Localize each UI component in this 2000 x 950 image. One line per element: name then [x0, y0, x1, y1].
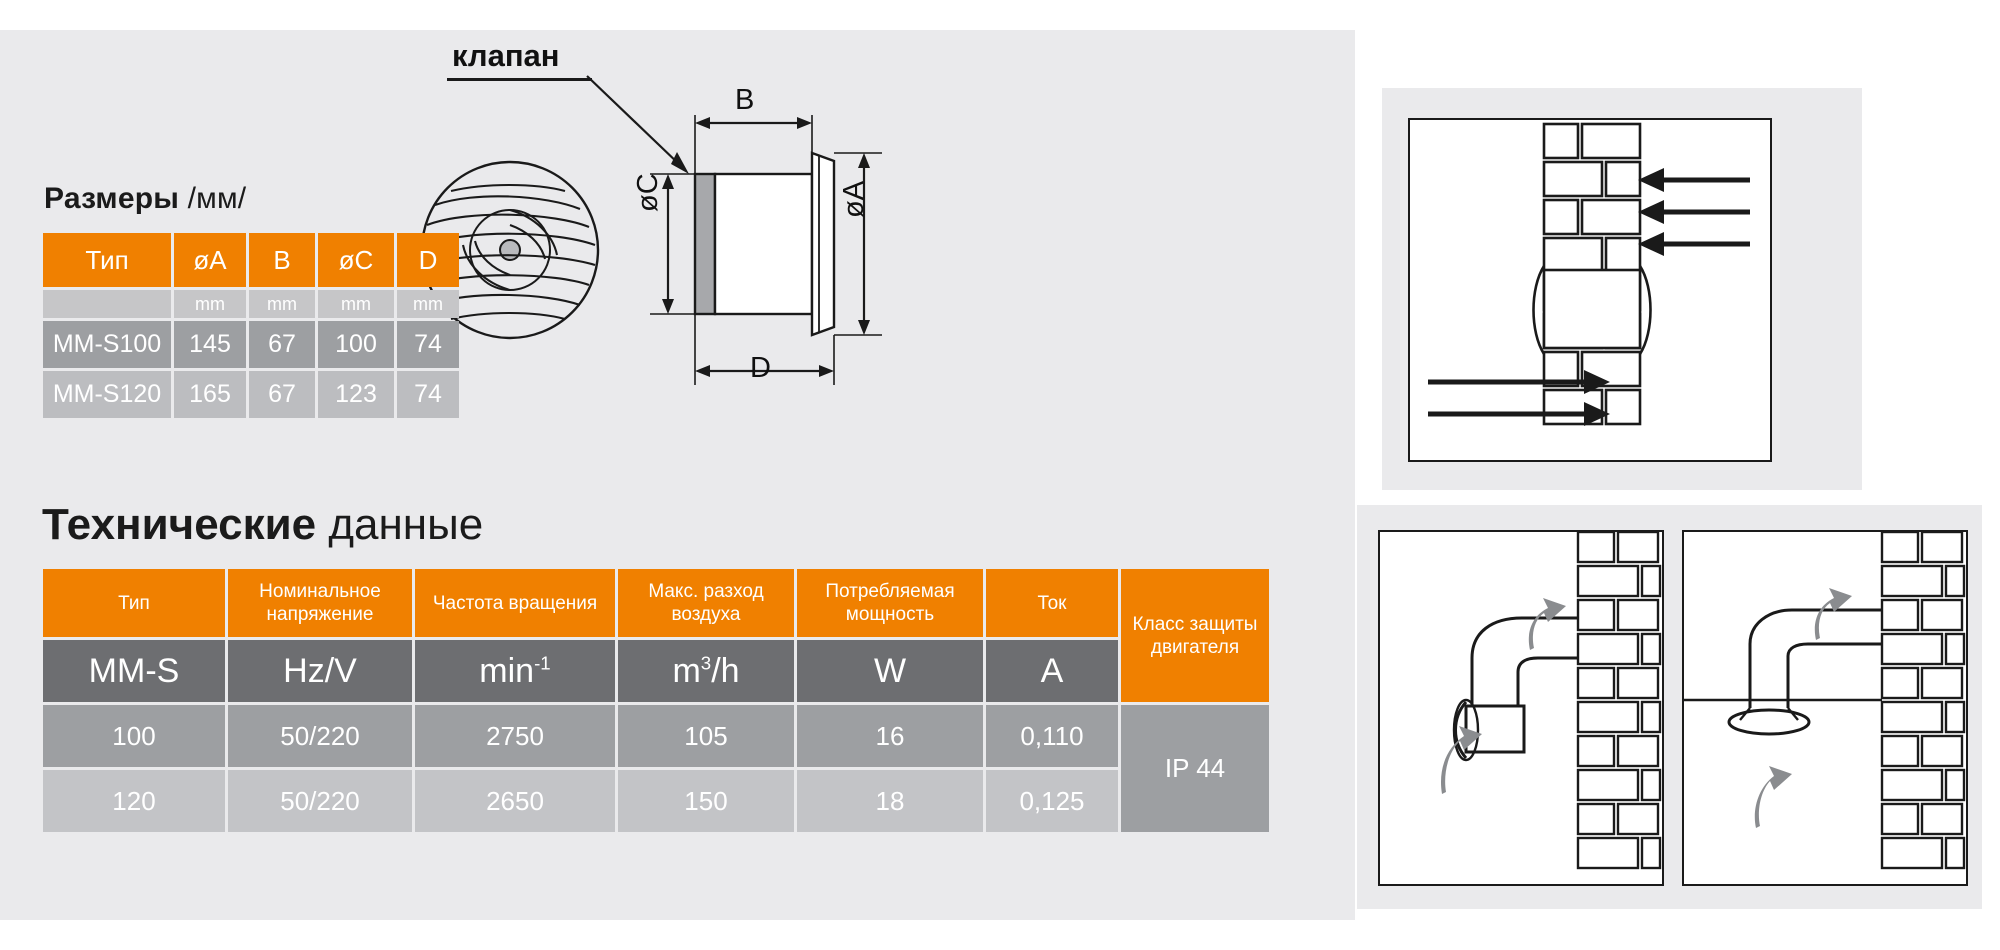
dimensions-units-row: mm mm mm mm	[43, 290, 459, 318]
dimensions-title-bold: Размеры	[44, 182, 179, 215]
tech-col-voltage: Номинальное напряжение	[228, 569, 412, 637]
technical-header-row: Тип Номинальное напряжение Частота враще…	[43, 569, 1269, 637]
cell-speed: 2650	[415, 770, 615, 832]
tech-unit-speed-sup: -1	[534, 652, 551, 673]
cell-type: 100	[43, 705, 225, 767]
wall-installation-diagram	[1408, 118, 1772, 462]
cell-power: 18	[797, 770, 983, 832]
dimensions-unit-oc: mm	[318, 290, 394, 318]
tech-unit-airflow: m3/h	[618, 640, 794, 702]
technical-data-title: Технические данные	[42, 500, 1272, 550]
tech-unit-type: MM-S	[43, 640, 225, 702]
fan-side-view-drawing	[620, 95, 910, 395]
cell-type: 120	[43, 770, 225, 832]
cell-b: 67	[249, 371, 315, 418]
dimension-label-oa: øA	[838, 181, 871, 218]
table-row: MM-S120 165 67 123 74	[43, 371, 459, 418]
cell-power: 16	[797, 705, 983, 767]
tech-unit-voltage: Hz/V	[228, 640, 412, 702]
tech-col-protection: Класс защиты двигателя	[1121, 569, 1269, 702]
technical-title-light: данные	[328, 500, 483, 549]
dimensions-table: Тип øA B øC D mm mm mm mm MM-S100 145 67…	[40, 230, 462, 421]
technical-units-row: MM-S Hz/V min-1 m3/h W A	[43, 640, 1269, 702]
tech-unit-power: W	[797, 640, 983, 702]
dimensions-col-d: D	[397, 233, 459, 287]
cell-type: MM-S100	[43, 321, 171, 368]
cell-voltage: 50/220	[228, 770, 412, 832]
valve-callout-underline	[447, 78, 592, 81]
dimensions-unit-oa: mm	[174, 290, 246, 318]
technical-title-bold: Технические	[42, 500, 316, 549]
tech-unit-current: A	[986, 640, 1118, 702]
cell-oc: 123	[318, 371, 394, 418]
cell-oa: 145	[174, 321, 246, 368]
technical-data-section: Технические данные Тип Номинальное напря…	[40, 500, 1272, 835]
tech-unit-speed: min-1	[415, 640, 615, 702]
tech-col-type: Тип	[43, 569, 225, 637]
dimension-label-b: B	[735, 84, 754, 117]
cell-d: 74	[397, 371, 459, 418]
dimensions-header-row: Тип øA B øC D	[43, 233, 459, 287]
dimension-label-d: D	[750, 352, 771, 385]
cell-type: MM-S120	[43, 371, 171, 418]
table-row: 100 50/220 2750 105 16 0,110 IP 44	[43, 705, 1269, 767]
dimensions-col-oc: øC	[318, 233, 394, 287]
cell-oa: 165	[174, 371, 246, 418]
dimensions-title-unit: /мм/	[188, 182, 247, 215]
dimensions-col-b: B	[249, 233, 315, 287]
cell-current: 0,125	[986, 770, 1118, 832]
dimensions-unit-b: mm	[249, 290, 315, 318]
table-row: MM-S100 145 67 100 74	[43, 321, 459, 368]
tech-unit-speed-base: min	[479, 652, 534, 690]
table-row: 120 50/220 2650 150 18 0,125	[43, 770, 1269, 832]
tech-col-power: Потребляемая мощность	[797, 569, 983, 637]
duct-installation-diagram-wall	[1378, 530, 1664, 886]
tech-unit-airflow-base: m	[672, 652, 700, 690]
cell-d: 74	[397, 321, 459, 368]
tech-unit-airflow-base2: /h	[711, 652, 739, 690]
tech-col-speed: Частота вращения	[415, 569, 615, 637]
cell-voltage: 50/220	[228, 705, 412, 767]
valve-callout-label: клапан	[452, 38, 560, 74]
cell-speed: 2750	[415, 705, 615, 767]
duct-installation-diagram-ceiling	[1682, 530, 1968, 886]
dimensions-section: Размеры /мм/ Тип øA B øC D mm mm mm mm M…	[40, 182, 462, 421]
technical-data-table: Тип Номинальное напряжение Частота враще…	[40, 566, 1272, 835]
cell-b: 67	[249, 321, 315, 368]
protection-class-value: IP 44	[1121, 705, 1269, 832]
dimensions-col-oa: øA	[174, 233, 246, 287]
dimensions-unit-type	[43, 290, 171, 318]
tech-unit-airflow-sup: 3	[701, 652, 711, 673]
tech-col-current: Ток	[986, 569, 1118, 637]
cell-oc: 100	[318, 321, 394, 368]
dimensions-title: Размеры /мм/	[44, 182, 462, 216]
cell-airflow: 105	[618, 705, 794, 767]
cell-current: 0,110	[986, 705, 1118, 767]
dimensions-unit-d: mm	[397, 290, 459, 318]
tech-col-airflow: Макс. разход воздуха	[618, 569, 794, 637]
dimensions-col-type: Тип	[43, 233, 171, 287]
dimension-label-oc: øC	[632, 173, 665, 212]
cell-airflow: 150	[618, 770, 794, 832]
